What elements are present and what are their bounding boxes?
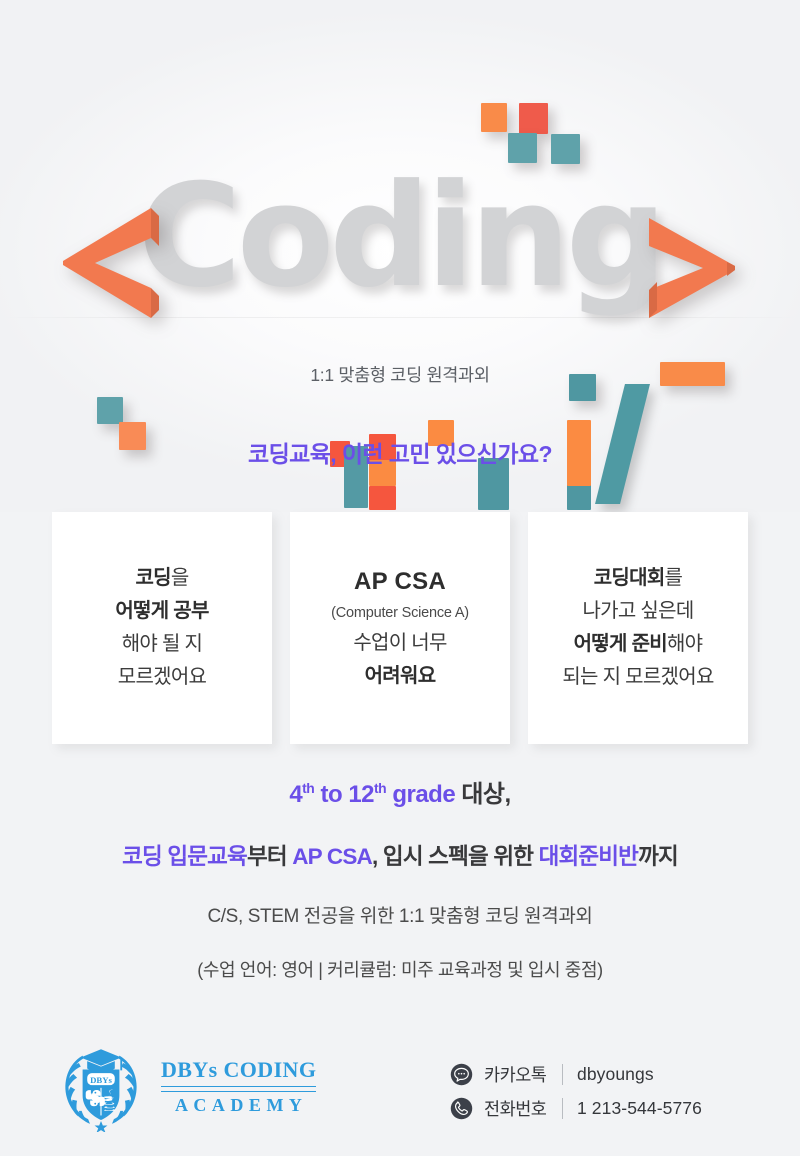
program-range-line: 코딩 입문교육부터 AP CSA, 입시 스펙을 위한 대회준비반까지 [0, 839, 800, 871]
detail-section: 4th to 12th grade 대상, 코딩 입문교육부터 AP CSA, … [0, 760, 800, 982]
coding-wordmark: Coding [0, 188, 800, 328]
footer-section: DBYs DBYs CODING [0, 1022, 800, 1156]
grade-connector: to [314, 781, 348, 808]
grade-from: 4 [289, 781, 302, 808]
card-line: 수업이 너무 [353, 632, 446, 655]
decor-square-red-top [519, 103, 548, 134]
left-angle-bracket-icon [55, 208, 160, 318]
brand-logo-text: DBYs CODING ACADEMY [161, 1057, 316, 1116]
decor-square-orange-top [481, 103, 507, 132]
problem-card-3[interactable]: 코딩대회를 나가고 싶은데 어떻게 준비해야 되는 지 모르겠어요 [528, 512, 748, 744]
page-headline: 코딩교육, 이런 고민 있으신가요? [0, 435, 800, 469]
card-subtitle: (Computer Science A) [331, 605, 469, 622]
chat-bubble-icon [450, 1063, 473, 1086]
problem-card-2[interactable]: AP CSA (Computer Science A) 수업이 너무 어려워요 [290, 512, 510, 744]
contact-value: 1 213-544-5776 [577, 1098, 702, 1119]
card-line: 코딩을 [135, 567, 188, 590]
brand-logo[interactable]: DBYs DBYs CODING [55, 1040, 316, 1132]
contact-info: 카카오톡 dbyoungs 전화번호 1 213-544-5776 [450, 1062, 702, 1121]
crest-banner-text: DBYs [90, 1075, 112, 1085]
problem-card-1[interactable]: 코딩을 어떻게 공부 해야 될 지 모르겠어요 [52, 512, 272, 744]
tagline: 1:1 맞춤형 코딩 원격과외 [0, 362, 800, 387]
grade-range-line: 4th to 12th grade 대상, [0, 774, 800, 809]
card-line: 모르겠어요 [118, 666, 207, 689]
grade-to-suffix: th [374, 780, 386, 796]
phone-icon [450, 1097, 473, 1120]
poster-root: Coding 1:1 맞춤형 코딩 원격과외 [0, 0, 800, 1156]
decor-bar-red-lower [369, 486, 396, 510]
card-line: 어려워요 [365, 665, 436, 688]
logo-bottom-line: ACADEMY [170, 1095, 308, 1116]
program-intro-suffix: 부터 [247, 844, 292, 869]
contact-divider [562, 1064, 563, 1085]
grade-target-suffix: 대상, [455, 781, 511, 808]
contact-value: dbyoungs [577, 1064, 654, 1085]
hero-section: Coding 1:1 맞춤형 코딩 원격과외 [0, 0, 800, 512]
contact-label: 전화번호 [484, 1096, 562, 1121]
decor-square-teal-left [97, 397, 123, 424]
grade-from-suffix: th [302, 780, 314, 796]
contact-divider [562, 1098, 563, 1119]
logo-divider [161, 1086, 316, 1092]
decor-square-teal-top-right [551, 134, 580, 164]
card-line: 코딩대회를 [594, 567, 683, 590]
card-line: 어떻게 공부 [115, 600, 208, 623]
program-middle: , 입시 스펙을 위한 [372, 844, 539, 869]
major-line: C/S, STEM 전공을 위한 1:1 맞춤형 코딩 원격과외 [0, 901, 800, 928]
contact-row-kakao[interactable]: 카카오톡 dbyoungs [450, 1062, 702, 1087]
program-apcsa: AP CSA [292, 844, 372, 869]
academy-crest-icon: DBYs [55, 1040, 147, 1132]
card-title: AP CSA [354, 568, 446, 596]
card-line: 해야 될 지 [122, 633, 203, 656]
card-line: 어떻게 준비해야 [574, 633, 703, 656]
card-line: 나가고 싶은데 [582, 600, 693, 623]
program-intro: 코딩 입문교육 [122, 844, 247, 869]
grade-to: 12 [348, 781, 374, 808]
decor-square-teal-top-left [508, 133, 537, 163]
program-contest-suffix: 까지 [638, 844, 678, 869]
contact-row-phone[interactable]: 전화번호 1 213-544-5776 [450, 1096, 702, 1121]
grade-word: grade [386, 781, 455, 808]
program-contest: 대회준비반 [539, 844, 639, 869]
right-angle-bracket-icon [645, 218, 745, 318]
card-line: 되는 지 모르겠어요 [562, 666, 713, 689]
contact-label: 카카오톡 [484, 1062, 562, 1087]
problem-cards: 코딩을 어떻게 공부 해야 될 지 모르겠어요 AP CSA (Computer… [0, 512, 800, 750]
logo-top-line: DBYs CODING [161, 1057, 316, 1083]
curriculum-line: (수업 언어: 영어 | 커리큘럼: 미주 교육과정 및 입시 중점) [0, 956, 800, 982]
